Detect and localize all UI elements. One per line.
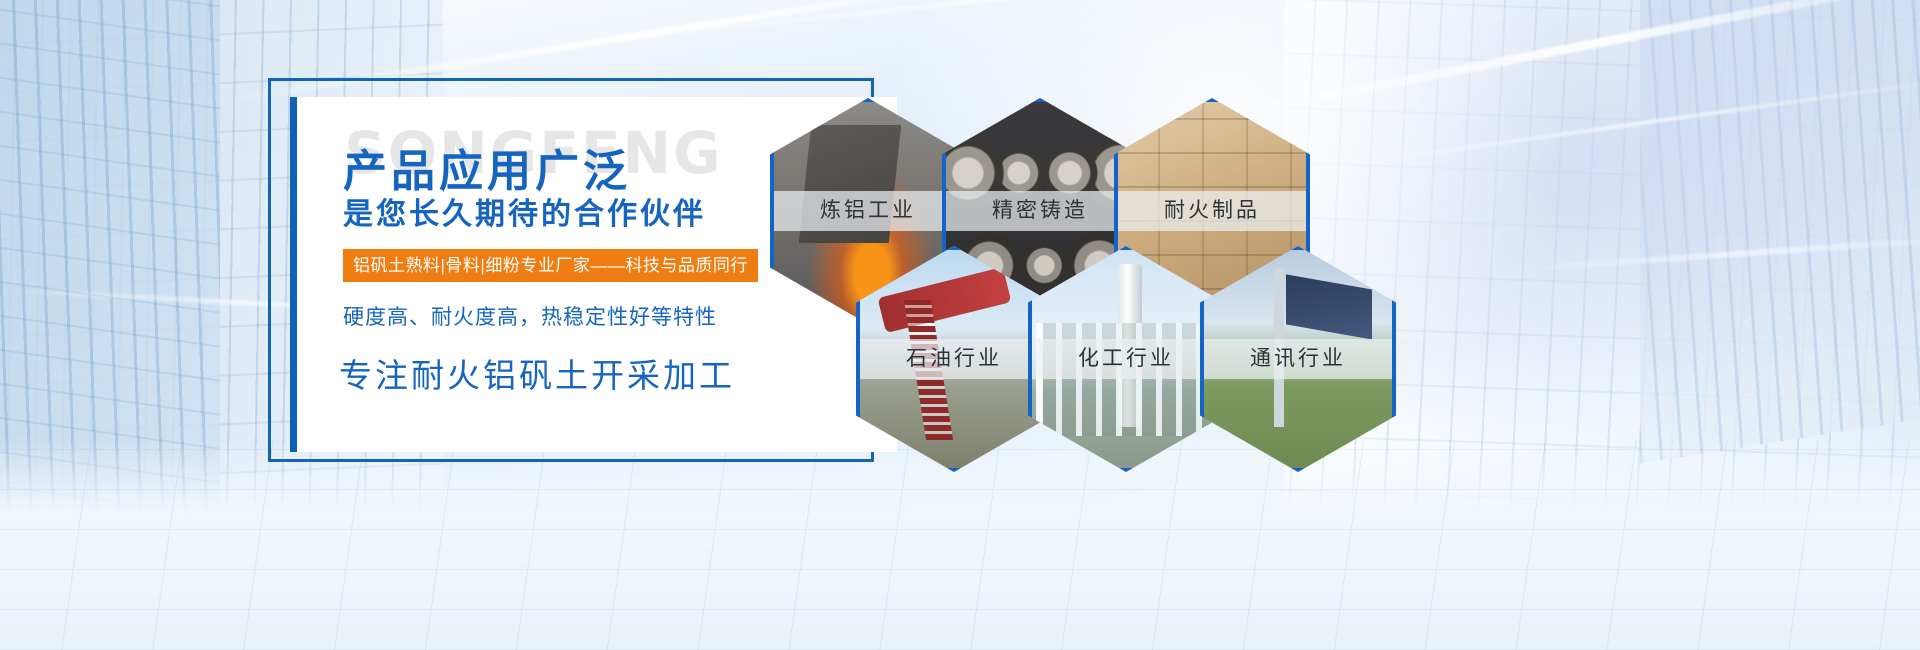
slogan: 专注耐火铝矾土开采加工 — [339, 349, 735, 397]
hex-label-chemical-industry: 化工行业 — [1028, 339, 1224, 379]
promo-banner: SONGFENG 产品应用广泛 是您长久期待的合作伙伴 铝矾土熟料|骨料|细粉专… — [0, 0, 1920, 650]
orange-tagline-band: 铝矾土熟料|骨料|细粉专业厂家——科技与品质同行 — [343, 249, 758, 282]
hex-label-aluminum-smelting: 炼铝工业 — [770, 191, 966, 231]
hex-label-precision-casting: 精密铸造 — [942, 191, 1138, 231]
hex-label-communications-industry: 通讯行业 — [1200, 339, 1396, 379]
industry-hexagon-gallery: 炼铝工业 精密铸造 耐火制品 石油行业 化工行业 通讯行业 — [770, 70, 1390, 500]
subheadline: 是您长久期待的合作伙伴 — [343, 189, 706, 233]
hex-label-refractory-products: 耐火制品 — [1114, 191, 1310, 231]
feature-line: 硬度高、耐火度高，热稳定性好等特性 — [343, 301, 717, 331]
hex-label-petroleum-industry: 石油行业 — [856, 339, 1052, 379]
